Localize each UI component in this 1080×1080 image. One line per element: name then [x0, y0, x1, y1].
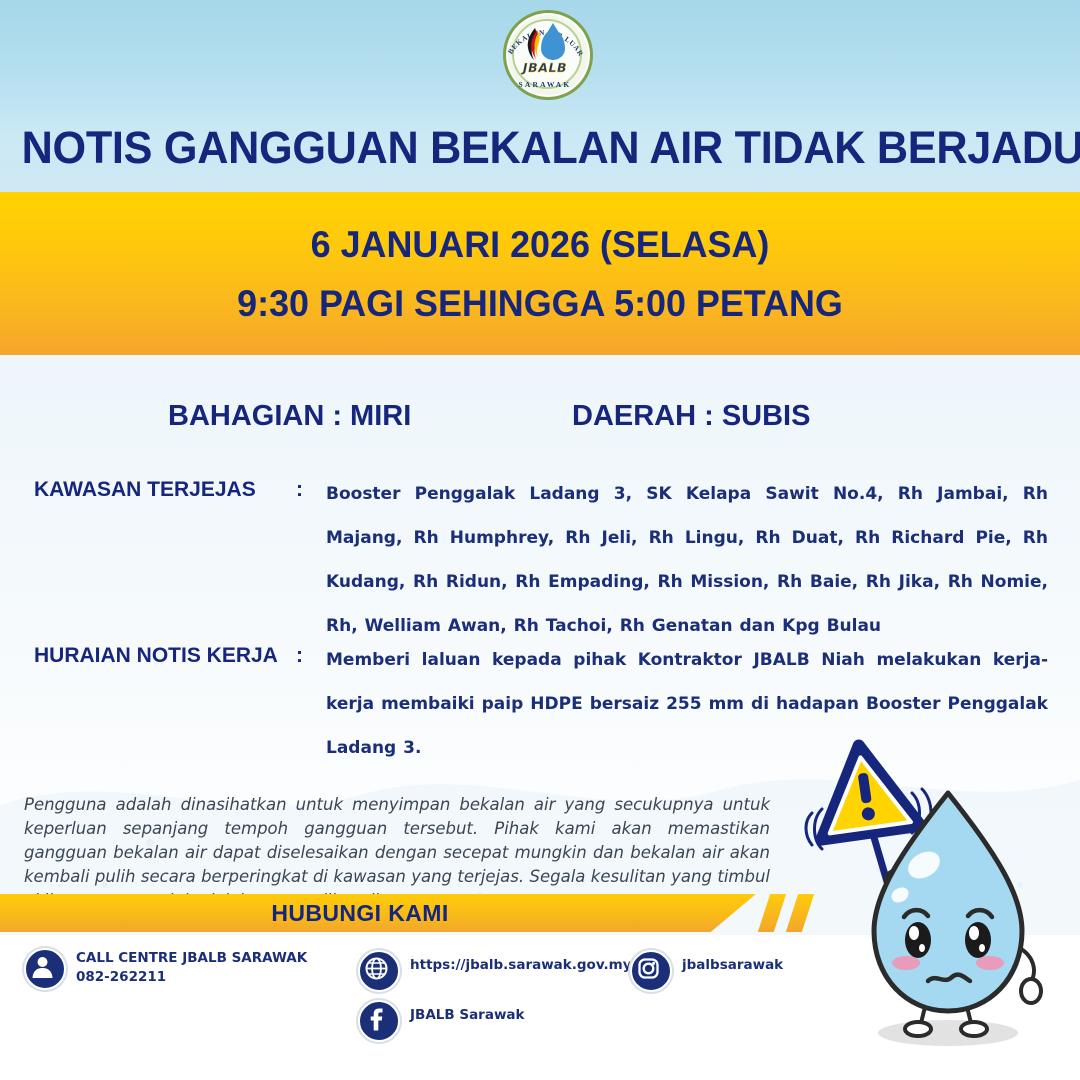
facebook-icon — [358, 1000, 400, 1042]
affected-areas-value: Booster Penggalak Ladang 3, SK Kelapa Sa… — [326, 472, 1048, 648]
instagram-icon — [630, 950, 672, 992]
logo-water-drop-icon — [541, 30, 565, 60]
affected-areas-label: KAWASAN TERJEJAS — [34, 478, 256, 502]
date-banner — [0, 192, 1080, 355]
work-description-colon: : — [296, 644, 303, 668]
affected-areas-colon: : — [296, 478, 303, 502]
water-droplet-mascot — [800, 735, 1080, 1080]
website-url: https://jbalb.sarawak.gov.my/ — [410, 956, 636, 975]
logo-state-label: SARAWAK — [505, 80, 585, 89]
globe-icon — [358, 950, 400, 992]
contact-banner-title: HUBUNGI KAMI — [0, 900, 720, 927]
notice-time-range: 9:30 PAGI SEHINGGA 5:00 PETANG — [16, 283, 1064, 325]
person-icon — [24, 948, 66, 990]
page-title: NOTIS GANGGUAN BEKALAN AIR TIDAK BERJADU… — [22, 122, 1059, 174]
contact-call-centre-text: CALL CENTRE JBALB SARAWAK 082-262211 — [76, 949, 307, 987]
logo-acronym: JBALB — [515, 60, 575, 75]
notice-poster: JABATAN BEKALAN AIR LUAR BANDAR JBALB SA… — [0, 0, 1080, 1080]
notice-date: 6 JANUARI 2026 (SELASA) — [16, 224, 1064, 266]
district-label: DAERAH : SUBIS — [572, 400, 810, 433]
call-centre-number: 082-262211 — [76, 968, 307, 987]
facebook-handle: JBALB Sarawak — [410, 1006, 525, 1025]
work-description-label: HURAIAN NOTIS KERJA — [34, 644, 278, 668]
logo-flame-icon — [523, 26, 541, 62]
jbalb-logo: JABATAN BEKALAN AIR LUAR BANDAR JBALB SA… — [497, 4, 593, 106]
division-label: BAHAGIAN : MIRI — [168, 400, 411, 433]
instagram-handle: jbalbsarawak — [682, 956, 783, 975]
call-centre-name: CALL CENTRE JBALB SARAWAK — [76, 949, 307, 968]
